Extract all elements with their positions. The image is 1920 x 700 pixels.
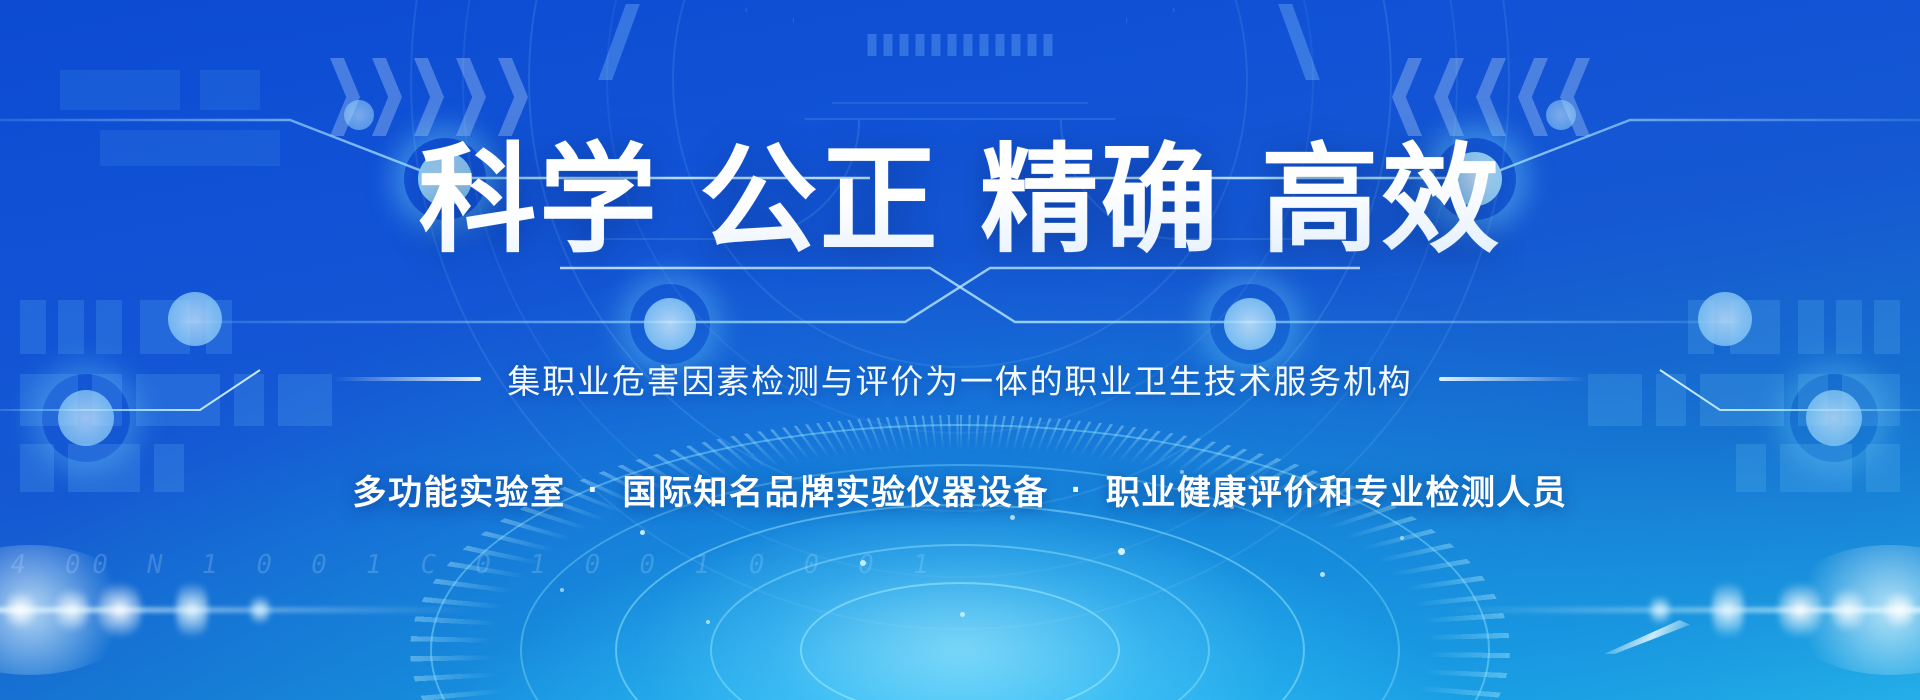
chevron-right-cluster	[330, 58, 570, 138]
radar-ring	[710, 544, 1210, 700]
headline-word-4: 高效	[1261, 135, 1502, 267]
feature-separator: ·	[566, 471, 623, 510]
lens-flare-left	[0, 565, 520, 655]
headline-word-3: 精确	[980, 135, 1221, 267]
banner-subtitle: 集职业危害因素检测与评价为一体的职业卫生技术服务机构	[507, 355, 1412, 403]
light-streak	[1604, 620, 1690, 654]
radar-tick-ring	[410, 415, 1510, 700]
sparkle	[1010, 515, 1015, 520]
page-title: 科学公正精确高效	[0, 132, 1920, 271]
sparkle	[560, 588, 564, 592]
circuit-node	[1698, 292, 1752, 346]
radar-ring	[615, 504, 1305, 700]
sparkle	[860, 560, 866, 566]
divider-line-right	[1439, 377, 1587, 381]
promo-banner: 4 00 N 1 0 0 1 C 0 1 0 0 1 0 0 0 1	[0, 0, 1920, 700]
circuit-node	[644, 298, 696, 350]
feature-item-1: 多功能实验室	[352, 474, 565, 512]
circuit-node	[1224, 298, 1276, 350]
feature-list: 多功能实验室·国际知名品牌实验仪器设备·职业健康评价和专业检测人员	[0, 465, 1920, 514]
circuit-trace-layer	[0, 0, 1920, 700]
divider-line-left	[333, 377, 481, 381]
subtitle-row: 集职业危害因素检测与评价为一体的职业卫生技术服务机构	[0, 355, 1920, 403]
sparkle	[1118, 548, 1125, 555]
hud-slash	[598, 4, 640, 80]
feature-separator: ·	[1049, 471, 1106, 510]
circuit-node	[168, 292, 222, 346]
feature-item-3: 职业健康评价和专业检测人员	[1106, 474, 1568, 512]
sparkle	[1400, 536, 1404, 540]
sparkle	[1320, 572, 1325, 577]
ghost-code-text: 4 00 N 1 0 0 1 C 0 1 0 0 1 0 0 0 1	[7, 550, 942, 580]
radar-ring	[800, 582, 1120, 700]
circuit-node	[1546, 100, 1576, 130]
headline-word-1: 科学	[419, 135, 660, 267]
sparkle	[960, 612, 965, 617]
headline-word-2: 公正	[699, 135, 940, 267]
radar-ripple	[370, 370, 1550, 700]
hud-hex-panel	[745, 0, 1175, 120]
hud-dot-bar	[868, 34, 1053, 56]
feature-item-2: 国际知名品牌实验仪器设备	[622, 474, 1048, 512]
sparkle	[706, 620, 710, 624]
hud-ring-group	[410, 0, 1510, 630]
circuit-node	[344, 100, 374, 130]
radar-core-glow	[640, 500, 1280, 700]
sparkle	[640, 530, 645, 535]
chevron-left-cluster	[1350, 58, 1590, 138]
lens-flare-right	[1400, 565, 1920, 655]
hud-slash-2	[1278, 4, 1320, 80]
